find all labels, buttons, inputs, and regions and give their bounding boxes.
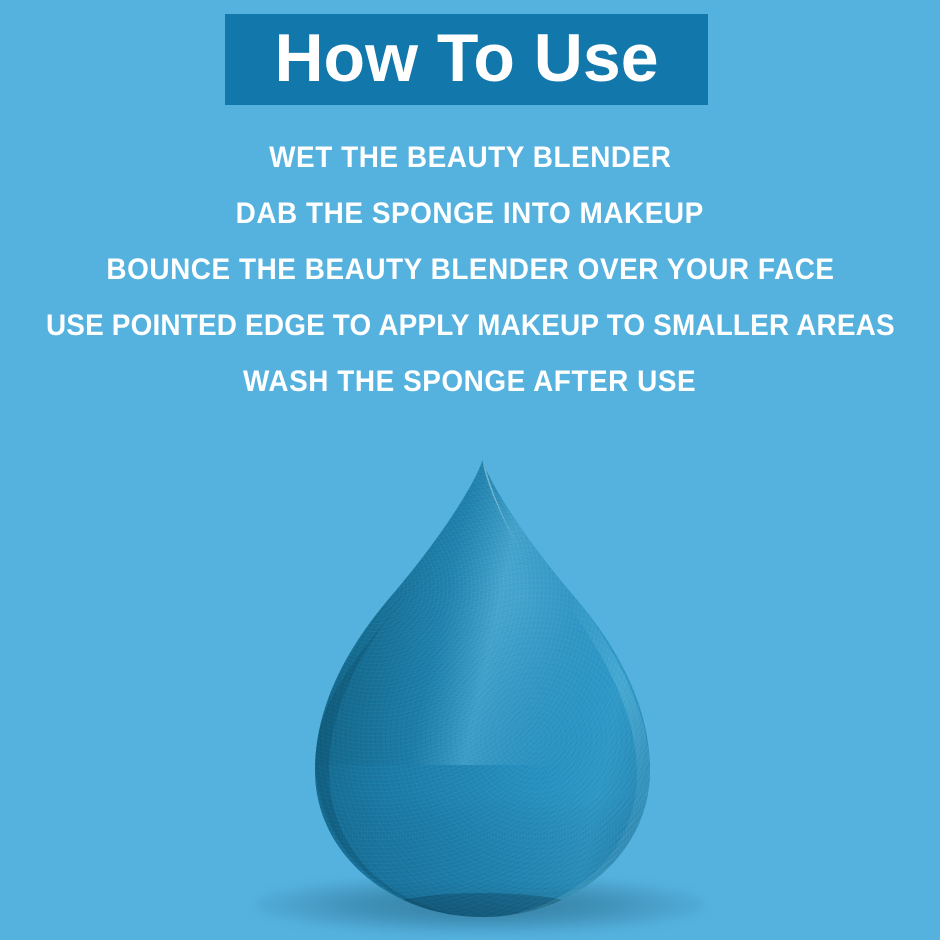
step-item: WET THE BEAUTY BLENDER	[269, 143, 671, 173]
title-banner: How To Use	[225, 14, 708, 105]
steps-list: WET THE BEAUTY BLENDER DAB THE SPONGE IN…	[0, 143, 940, 397]
step-item: WASH THE SPONGE AFTER USE	[243, 367, 696, 397]
step-item: USE POINTED EDGE TO APPLY MAKEUP TO SMAL…	[46, 311, 895, 341]
page-title: How To Use	[274, 24, 658, 92]
sponge-ground-shadow	[255, 876, 705, 934]
step-item: DAB THE SPONGE INTO MAKEUP	[236, 199, 704, 229]
how-to-use-infographic: How To Use WET THE BEAUTY BLENDER DAB TH…	[0, 0, 940, 940]
sponge-texture-overlay	[315, 459, 650, 917]
step-item: BOUNCE THE BEAUTY BLENDER OVER YOUR FACE	[106, 255, 834, 285]
beauty-blender-sponge-icon	[315, 459, 650, 917]
